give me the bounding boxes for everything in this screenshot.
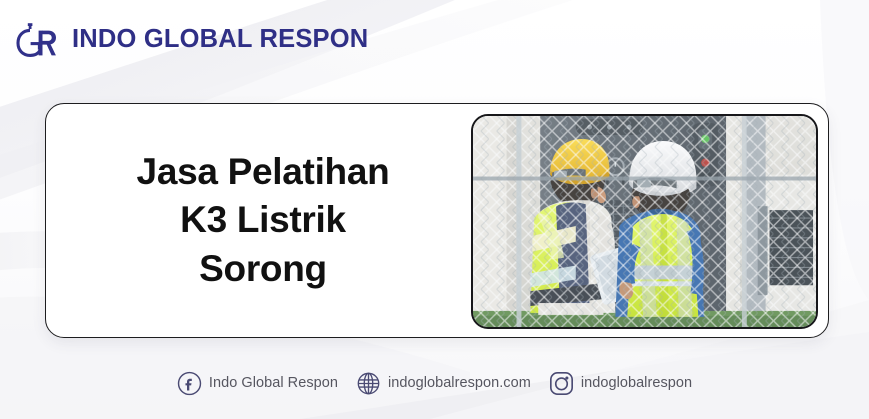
title-line-2: K3 Listrik	[180, 199, 346, 240]
igr-monogram-logo-icon	[14, 19, 58, 59]
footer-label-facebook: Indo Global Respon	[209, 375, 338, 391]
header-bar: INDO GLOBAL RESPON	[14, 10, 368, 68]
electrical-safety-workers-photo	[471, 114, 818, 329]
facebook-icon	[177, 371, 202, 396]
title-line-1: Jasa Pelatihan	[137, 151, 390, 192]
footer-social-bar: Indo Global Respon indoglobalrespon.com …	[0, 365, 869, 401]
instagram-icon	[549, 371, 574, 396]
footer-label-website: indoglobalrespon.com	[388, 375, 531, 391]
footer-item-facebook[interactable]: Indo Global Respon	[168, 371, 347, 396]
brand-name: INDO GLOBAL RESPON	[72, 25, 368, 54]
hero-card: Jasa Pelatihan K3 Listrik Sorong	[45, 103, 829, 338]
footer-item-instagram[interactable]: indoglobalrespon	[540, 371, 701, 396]
page-title: Jasa Pelatihan K3 Listrik Sorong	[137, 148, 390, 292]
footer-label-instagram: indoglobalrespon	[581, 375, 692, 391]
title-line-3: Sorong	[199, 248, 327, 289]
globe-icon	[356, 371, 381, 396]
footer-item-website[interactable]: indoglobalrespon.com	[347, 371, 540, 396]
hero-title-container: Jasa Pelatihan K3 Listrik Sorong	[46, 104, 466, 337]
